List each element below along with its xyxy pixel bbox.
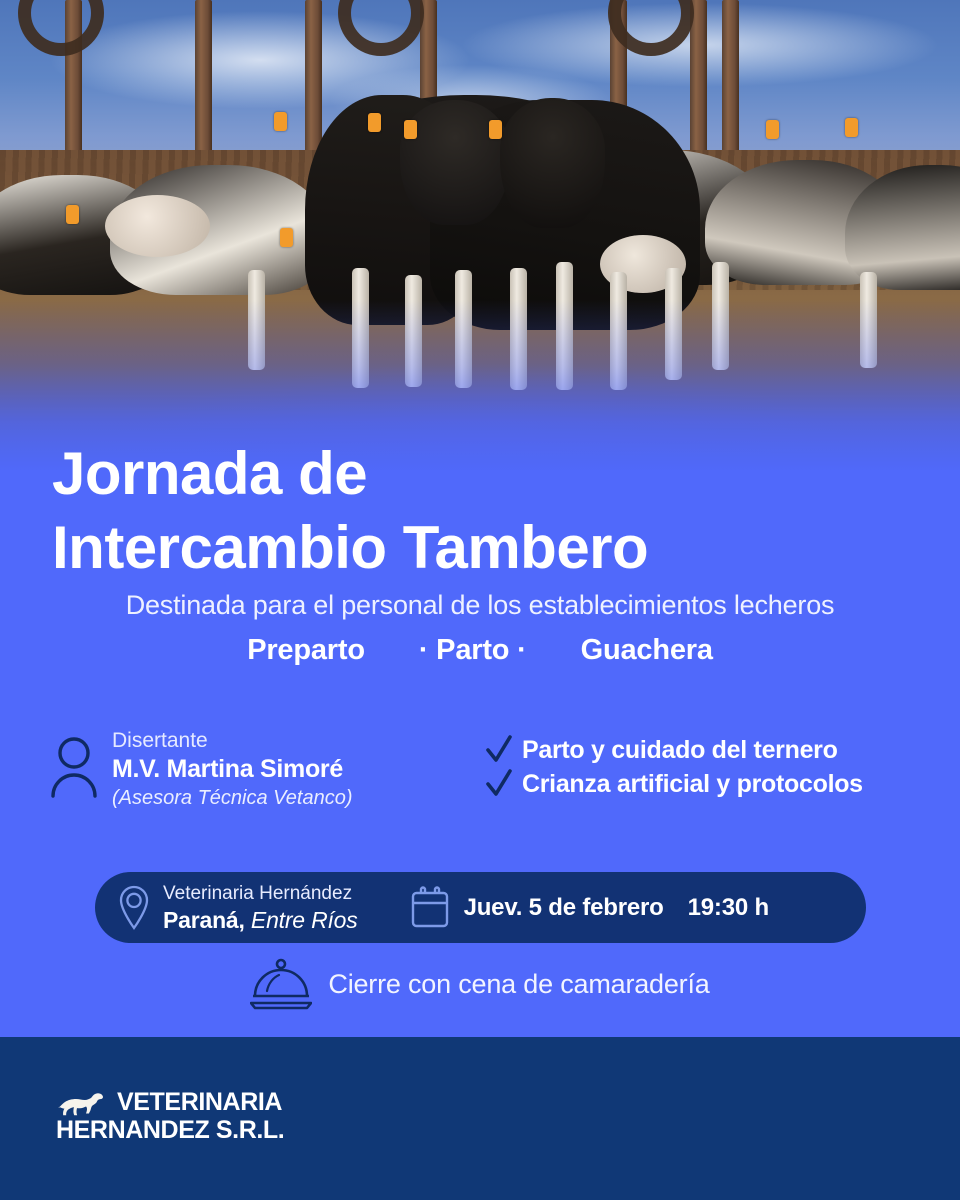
- date-text: Juev. 5 de febrero 19:30 h: [464, 894, 769, 922]
- ear-tag-icon: [489, 120, 502, 139]
- topic-parto: · Parto ·: [419, 634, 527, 667]
- calendar-icon: [410, 886, 450, 930]
- footer-bar: VETERINARIA HERNANDEZ S.R.L.: [0, 1037, 960, 1200]
- ear-tag-icon: [845, 118, 858, 137]
- dinner-text: Cierre con cena de camaradería: [328, 969, 709, 1000]
- cow-head: [500, 98, 605, 228]
- ear-tag-icon: [404, 120, 417, 139]
- check-icon: [486, 769, 512, 799]
- date-block: Juev. 5 de febrero 19:30 h: [410, 886, 769, 930]
- headline-line-1: Jornada de: [52, 440, 367, 507]
- venue-separator: ,: [239, 907, 245, 933]
- venue-name: Veterinaria Hernández: [163, 882, 358, 906]
- topic-guachera: Guachera: [581, 634, 713, 667]
- check-icon: [486, 735, 512, 765]
- barn-post: [722, 0, 739, 165]
- list-item: Parto y cuidado del ternero: [486, 735, 863, 765]
- speaker-block: Disertante M.V. Martina Simoré (Asesora …: [50, 728, 352, 811]
- venue-city: Paraná: [163, 907, 239, 933]
- subtitle: Destinada para el personal de los establ…: [0, 588, 960, 622]
- logo-veterinaria-hernandez: VETERINARIA HERNANDEZ S.R.L.: [56, 1089, 286, 1145]
- map-pin-icon: [117, 885, 151, 931]
- ear-tag-icon: [66, 205, 79, 224]
- cow-udder: [105, 195, 210, 257]
- ear-tag-icon: [280, 228, 293, 247]
- speaker-organization: (Asesora Técnica Vetanco): [112, 785, 352, 811]
- dinner-note: Cierre con cena de camaradería: [0, 958, 960, 1010]
- logo-vh-line2: HERNANDEZ S.R.L.: [56, 1116, 286, 1145]
- dog-silhouette-icon: [56, 1090, 110, 1116]
- logo-vh-line1: VETERINARIA: [117, 1089, 282, 1116]
- checklist-item-label: Crianza artificial y protocolos: [522, 770, 863, 799]
- venue-block: Veterinaria Hernández Paraná, Entre Ríos: [117, 882, 358, 934]
- logo-line-1: VETERINARIA: [56, 1089, 286, 1116]
- footer-content: VETERINARIA HERNANDEZ S.R.L.: [0, 1037, 960, 1200]
- person-icon: [50, 736, 98, 803]
- cloche-food-cover-icon: [250, 958, 312, 1010]
- speaker-role-label: Disertante: [112, 728, 352, 754]
- checklist-item-label: Parto y cuidado del ternero: [522, 736, 838, 765]
- ear-tag-icon: [766, 120, 779, 139]
- list-item: Crianza artificial y protocolos: [486, 769, 863, 799]
- venue-text: Veterinaria Hernández Paraná, Entre Ríos: [163, 882, 358, 934]
- speaker-text: Disertante M.V. Martina Simoré (Asesora …: [112, 728, 352, 811]
- topic-preparto: Preparto: [247, 634, 365, 667]
- event-flyer: Jornada de Intercambio Tambero Destinada…: [0, 0, 960, 1200]
- headline-line-2: Intercambio Tambero: [52, 511, 932, 585]
- hero-photo: [0, 0, 960, 470]
- ear-tag-icon: [274, 112, 287, 131]
- event-date: Juev. 5 de febrero: [464, 894, 664, 922]
- page-title: Jornada de Intercambio Tambero: [52, 437, 932, 585]
- topics-list: Preparto · Parto · Guachera: [0, 634, 960, 667]
- checklist: Parto y cuidado del ternero Crianza arti…: [486, 735, 863, 799]
- venue-city-province: Paraná, Entre Ríos: [163, 906, 358, 934]
- venue-province: Entre Ríos: [251, 907, 358, 933]
- event-details-pill: Veterinaria Hernández Paraná, Entre Ríos…: [95, 872, 866, 943]
- ear-tag-icon: [368, 113, 381, 132]
- speaker-name: M.V. Martina Simoré: [112, 754, 352, 785]
- event-time: 19:30 h: [688, 894, 769, 922]
- cow-head: [400, 100, 510, 225]
